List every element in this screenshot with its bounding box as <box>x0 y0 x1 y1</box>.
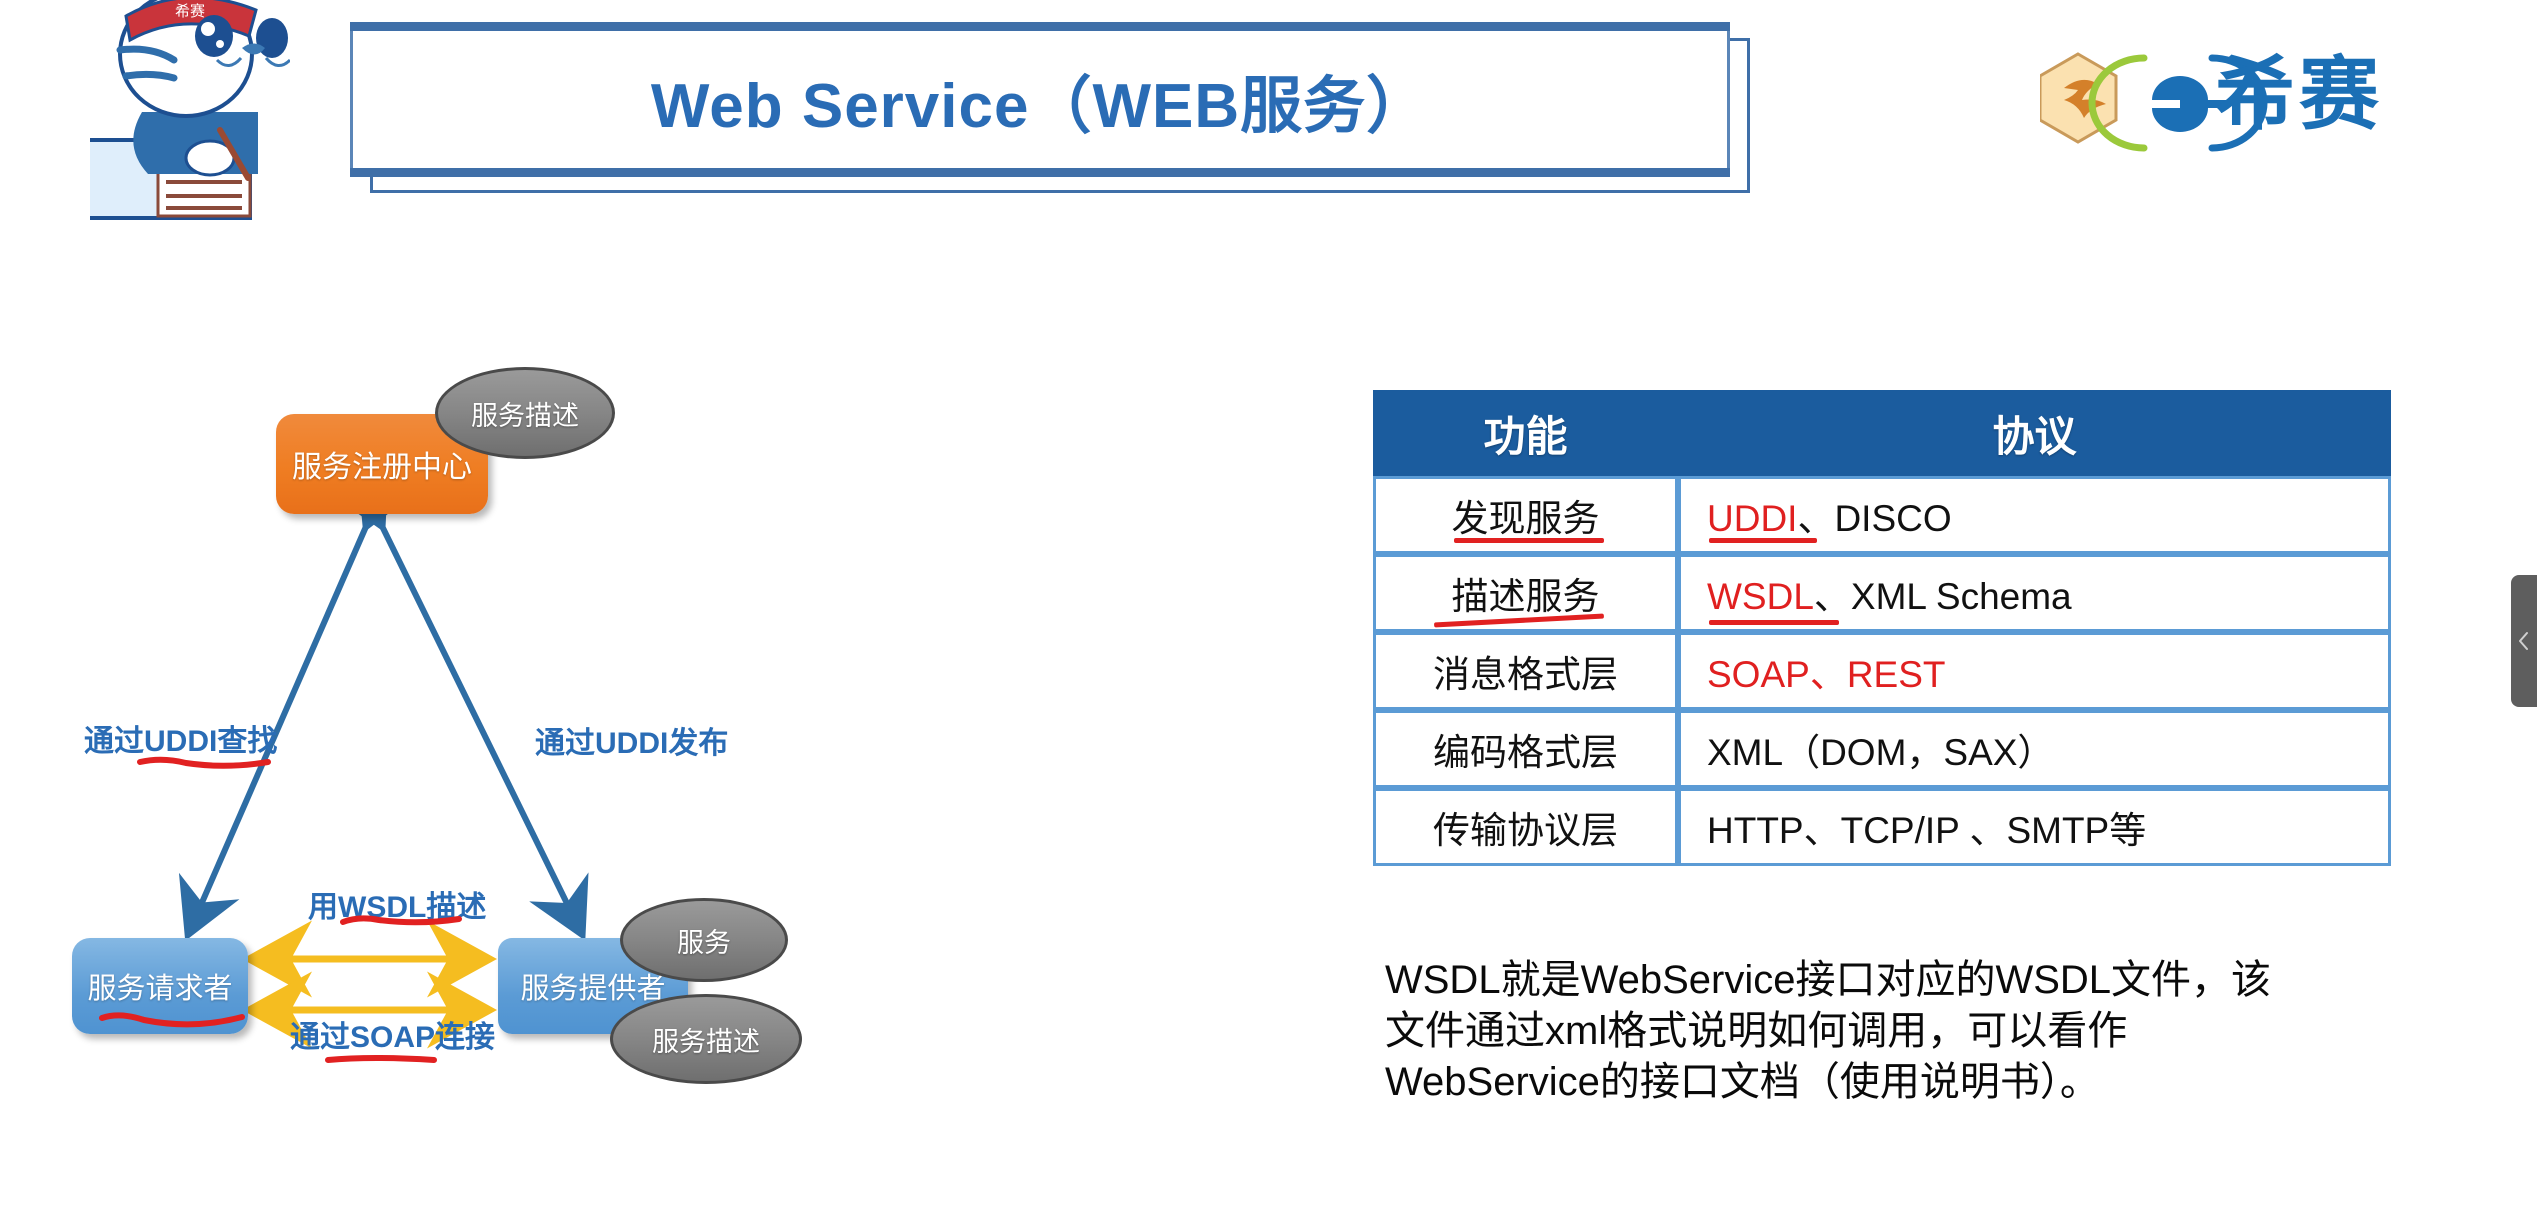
title-frame-bottom-bar <box>350 168 1730 177</box>
table-row: 传输协议层 HTTP、TCP/IP 、SMTP等 <box>1373 788 2391 866</box>
ellipse-service-description-bottom: 服务描述 <box>610 994 802 1084</box>
cell-text: 编码格式层 <box>1433 732 1618 773</box>
cell-function: 发现服务 <box>1373 476 1678 554</box>
cell-text: 传输协议层 <box>1433 810 1618 851</box>
cell-text: 描述服务 <box>1452 576 1600 617</box>
cell-function: 传输协议层 <box>1373 788 1678 866</box>
ellipse-label: 服务 <box>677 921 731 960</box>
mascot-illustration: 希赛 <box>90 0 290 222</box>
cell-protocol: HTTP、TCP/IP 、SMTP等 <box>1678 788 2391 866</box>
cell-function: 编码格式层 <box>1373 710 1678 788</box>
red-underline <box>1709 620 1839 625</box>
cell-text: 、DISCO <box>1797 498 1951 539</box>
header-banner: 希赛 Web Service（WEB服务） <box>0 0 2537 230</box>
table-row: 编码格式层 XML（DOM，SAX） <box>1373 710 2391 788</box>
cell-protocol: SOAP、REST <box>1678 632 2391 710</box>
ellipse-service: 服务 <box>620 898 788 982</box>
table-header-function: 功能 <box>1373 390 1678 476</box>
cat-mascot-icon: 希赛 <box>90 0 290 222</box>
webservice-architecture-diagram: 服务描述 服务 服务描述 服务注册中心 服务请求者 服务提供者 通过UDDI查找… <box>80 370 1350 1160</box>
note-line: 文件通过xml格式说明如何调用，可以看作 <box>1385 1006 2415 1057</box>
cell-text: XML（DOM，SAX） <box>1707 732 2054 773</box>
table-header-protocol: 协议 <box>1678 390 2391 476</box>
svg-text:希赛: 希赛 <box>175 3 205 20</box>
note-paragraph: WSDL就是WebService接口对应的WSDL文件，该 文件通过xml格式说… <box>1385 955 2415 1109</box>
table-row: 发现服务 UDDI、DISCO <box>1373 476 2391 554</box>
node-label: 服务提供者 <box>520 965 665 1007</box>
node-service-requester: 服务请求者 <box>72 938 248 1034</box>
ellipse-label: 服务描述 <box>652 1020 760 1059</box>
cell-protocol: XML（DOM，SAX） <box>1678 710 2391 788</box>
cell-protocol: WSDL、XML Schema <box>1678 554 2391 632</box>
cell-text: 发现服务 <box>1452 498 1600 539</box>
node-label: 服务注册中心 <box>292 442 472 486</box>
cell-protocol: UDDI、DISCO <box>1678 476 2391 554</box>
cell-text: 、XML Schema <box>1814 576 2072 617</box>
label-soap-connect: 通过SOAP连接 <box>290 1012 495 1056</box>
label-wsdl-describe: 用WSDL描述 <box>308 882 486 926</box>
note-line: WSDL就是WebService接口对应的WSDL文件，该 <box>1385 955 2415 1006</box>
page-title: Web Service（WEB服务） <box>350 40 1730 160</box>
red-underline <box>1454 538 1604 543</box>
brand-logo-text: 希赛 <box>2215 40 2383 150</box>
side-panel-toggle[interactable] <box>2511 575 2537 707</box>
cell-highlight: UDDI <box>1707 498 1797 539</box>
ellipse-service-description-top: 服务描述 <box>435 367 615 459</box>
table-row: 描述服务 WSDL、XML Schema <box>1373 554 2391 632</box>
ellipse-label: 服务描述 <box>471 394 579 433</box>
cell-text: HTTP、TCP/IP 、SMTP等 <box>1707 810 2146 851</box>
table-row: 消息格式层 SOAP、REST <box>1373 632 2391 710</box>
cell-highlight: SOAP、REST <box>1707 654 1946 695</box>
label-uddi-find: 通过UDDI查找 <box>84 716 277 760</box>
chevron-left-icon <box>2517 630 2531 652</box>
title-frame-top-bar <box>350 22 1730 31</box>
red-underline <box>1709 538 1817 543</box>
cell-function: 消息格式层 <box>1373 632 1678 710</box>
cell-text: 消息格式层 <box>1433 654 1618 695</box>
protocol-table: 功能 协议 发现服务 UDDI、DISCO 描述服务 WSDL、XML Sche… <box>1373 390 2391 866</box>
table-header-row: 功能 协议 <box>1373 390 2391 476</box>
node-label: 服务请求者 <box>87 965 232 1007</box>
label-uddi-publish: 通过UDDI发布 <box>535 718 728 762</box>
note-line: WebService的接口文档（使用说明书）。 <box>1385 1057 2415 1108</box>
cell-function: 描述服务 <box>1373 554 1678 632</box>
cell-highlight: WSDL <box>1707 576 1814 617</box>
